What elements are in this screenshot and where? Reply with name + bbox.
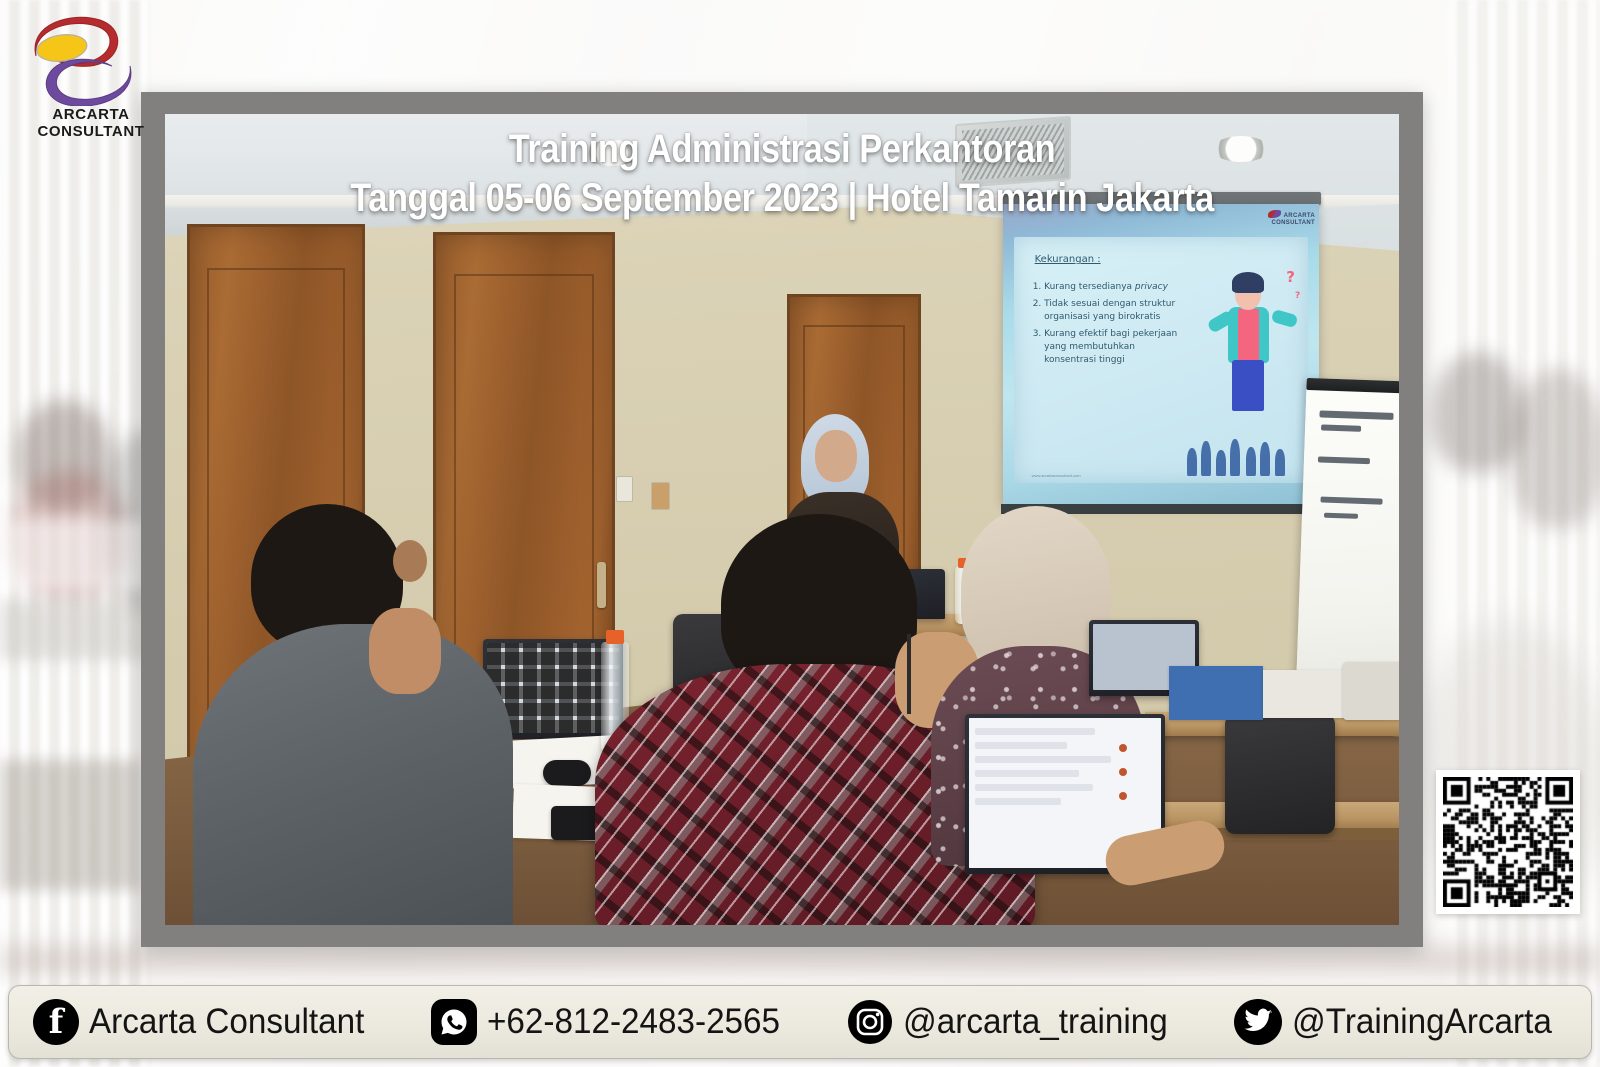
whatsapp-label: +62-812-2483-2565 xyxy=(487,1002,780,1042)
slide-bullet: Kurang efektif bagi pekerjaan yang membu… xyxy=(1044,328,1186,367)
brand-name-line1: ARCARTA xyxy=(26,106,156,123)
participant-gray-shirt xyxy=(193,504,523,925)
qr-code[interactable] xyxy=(1436,770,1580,914)
projector-screen: ARCARTA CONSULTANT Kekurangan : Kurang t… xyxy=(1003,204,1319,504)
slide-bullet: Kurang tersedianya privacy xyxy=(1044,281,1186,294)
projector-unit xyxy=(1343,662,1399,720)
brand-logo-text: ARCARTA CONSULTANT xyxy=(26,106,156,140)
brand-name-line2: CONSULTANT xyxy=(26,123,156,140)
ac-vent xyxy=(955,116,1071,188)
contact-facebook[interactable]: f Arcarta Consultant xyxy=(9,999,393,1045)
chair-right xyxy=(1225,714,1335,834)
slide-illustration: ? ? xyxy=(1205,276,1293,424)
ceiling-light-left xyxy=(583,140,641,166)
binder-right xyxy=(1169,666,1263,720)
brand-logo-mark xyxy=(18,14,148,106)
contact-whatsapp[interactable]: +62-812-2483-2565 xyxy=(417,999,809,1045)
slide-brand: ARCARTA CONSULTANT xyxy=(1256,210,1315,227)
training-photo: ARCARTA CONSULTANT Kekurangan : Kurang t… xyxy=(165,114,1399,925)
instagram-label: @arcarta_training xyxy=(903,1002,1168,1042)
slide-brand-swoosh-icon xyxy=(1268,210,1281,218)
wall-switch-a xyxy=(616,476,633,502)
facebook-icon: f xyxy=(33,999,79,1045)
participant-gray-body xyxy=(193,624,513,925)
whatsapp-icon xyxy=(431,999,477,1045)
instructor-face xyxy=(815,430,857,482)
slide-bullet-list: Kurang tersedianya privacy Tidak sesuai … xyxy=(1033,281,1186,371)
photo-frame: ARCARTA CONSULTANT Kekurangan : Kurang t… xyxy=(141,92,1423,947)
arcarta-swoosh-icon xyxy=(18,14,148,106)
flyer-canvas: ARCARTA CONSULTANT Kekurangan : Kurang t… xyxy=(0,0,1600,1067)
instagram-icon xyxy=(847,999,893,1045)
qr-code-image xyxy=(1443,777,1573,907)
contact-instagram[interactable]: @arcarta_training xyxy=(833,999,1196,1045)
wall-switch-b xyxy=(651,482,670,510)
brand-logo: ARCARTA CONSULTANT xyxy=(18,14,168,154)
slide-crowd-silhouette xyxy=(1185,436,1297,475)
contact-footer: f Arcarta Consultant +62-812-2483-2565 xyxy=(8,985,1592,1059)
slide-bullet: Tidak sesuai dengan struktur organisasi … xyxy=(1044,298,1186,324)
contact-twitter[interactable]: @TrainingArcarta xyxy=(1220,999,1592,1045)
cable xyxy=(907,634,911,714)
twitter-icon xyxy=(1234,999,1282,1045)
slide-title: Kekurangan : xyxy=(1035,254,1101,265)
mouse-left xyxy=(543,760,591,786)
flipchart-clamp xyxy=(1306,378,1399,394)
twitter-label: @TrainingArcarta xyxy=(1292,1002,1552,1042)
slide-content: Kekurangan : Kurang tersedianya privacy … xyxy=(1014,237,1308,483)
slide-footer-url: www.arcartaconsultant.com xyxy=(1032,473,1081,478)
ceiling-light-right xyxy=(1213,136,1269,162)
facebook-label: Arcarta Consultant xyxy=(89,1002,364,1042)
